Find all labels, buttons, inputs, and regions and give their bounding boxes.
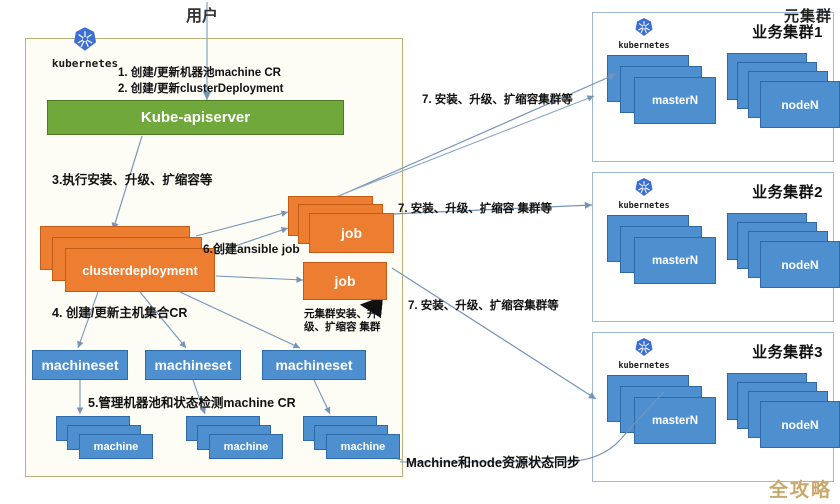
job-card-front[interactable]: job (309, 213, 394, 253)
job-single-box[interactable]: job (303, 262, 387, 300)
kubernetes-logo-label: kubernetes (607, 42, 681, 51)
note-step-2: 2. 创建/更新clusterDeployment (118, 80, 284, 96)
note-step-4: 4. 创建/更新主机集合CR (52, 302, 187, 321)
kubernetes-logo-meta: kubernetes (42, 26, 128, 69)
kubernetes-icon (634, 337, 654, 357)
kubernetes-logo-label: kubernetes (607, 202, 681, 211)
node-card-front[interactable]: nodeN (760, 241, 840, 288)
machine-stack-3[interactable]: machine (303, 416, 403, 464)
watermark: 全攻略 (769, 475, 832, 502)
kubernetes-logo-cluster1: kubernetes (607, 17, 681, 51)
business-cluster-panel-3: 业务集群3 kubernetes masterN nodeN (592, 332, 834, 482)
machine-stack-1[interactable]: machine (56, 416, 156, 464)
arrow-job-to-cluster3 (392, 268, 596, 399)
machine-stack-2[interactable]: machine (186, 416, 286, 464)
machine-card-front[interactable]: machine (326, 434, 400, 459)
node-stack-1[interactable]: nodeN (727, 53, 840, 133)
arrow-label-7-cluster2: 7. 安装、升级、扩缩容 集群等 (398, 200, 552, 216)
note-step-3: 3.执行安装、升级、扩缩容等 (52, 169, 212, 188)
business-cluster-panel-1: 业务集群1 kubernetes masterN nodeN (592, 12, 834, 162)
node-card-front[interactable]: nodeN (760, 401, 840, 448)
machineset-box-3[interactable]: machineset (262, 350, 366, 380)
node-card-front[interactable]: nodeN (760, 81, 840, 128)
kubernetes-logo-label: kubernetes (42, 58, 128, 69)
note-step-5: 5.管理机器池和状态检测machine CR (88, 392, 296, 411)
clusterdeployment-card-front[interactable]: clusterdeployment (65, 248, 215, 292)
job-stack[interactable]: job (288, 196, 398, 254)
kubernetes-icon (634, 177, 654, 197)
meta-job-caption: 元集群安装、升级、扩缩容 集群 (304, 308, 396, 334)
business-cluster-title-3: 业务集群3 (752, 341, 823, 362)
arrow-label-7-cluster3: 7. 安装、升级、扩缩容集群等 (408, 297, 559, 313)
machineset-box-2[interactable]: machineset (145, 350, 241, 380)
master-card-front[interactable]: masterN (634, 397, 716, 444)
diagram-canvas: 用户 元集群 kubernetes 1. 创建/更新 (0, 0, 840, 504)
note-step-6: 6.创建ansible job (203, 240, 300, 257)
kubernetes-icon (72, 26, 98, 52)
machine-card-front[interactable]: machine (209, 434, 283, 459)
arrow-label-7-cluster1: 7. 安装、升级、扩缩容集群等 (422, 91, 573, 107)
master-stack-1[interactable]: masterN (607, 55, 719, 127)
node-stack-3[interactable]: nodeN (727, 373, 840, 453)
node-stack-2[interactable]: nodeN (727, 213, 840, 293)
master-stack-2[interactable]: masterN (607, 215, 719, 287)
business-cluster-panel-2: 业务集群2 kubernetes masterN nodeN (592, 172, 834, 322)
business-cluster-title-2: 业务集群2 (752, 181, 823, 202)
master-stack-3[interactable]: masterN (607, 375, 719, 447)
arrow-label-sync: Machine和node资源状态同步 (406, 452, 580, 471)
master-card-front[interactable]: masterN (634, 77, 716, 124)
kubernetes-logo-cluster3: kubernetes (607, 337, 681, 371)
kubernetes-logo-label: kubernetes (607, 362, 681, 371)
kube-apiserver-box[interactable]: Kube-apiserver (47, 100, 344, 135)
machine-card-front[interactable]: machine (79, 434, 153, 459)
master-card-front[interactable]: masterN (634, 237, 716, 284)
note-step-1: 1. 创建/更新机器池machine CR (118, 64, 281, 80)
machineset-box-1[interactable]: machineset (32, 350, 128, 380)
meta-cluster-title: 元集群 (784, 5, 832, 26)
kubernetes-logo-cluster2: kubernetes (607, 177, 681, 211)
user-label: 用户 (186, 2, 218, 26)
kubernetes-icon (634, 17, 654, 37)
clusterdeployment-stack[interactable]: clusterdeployment (40, 226, 225, 294)
